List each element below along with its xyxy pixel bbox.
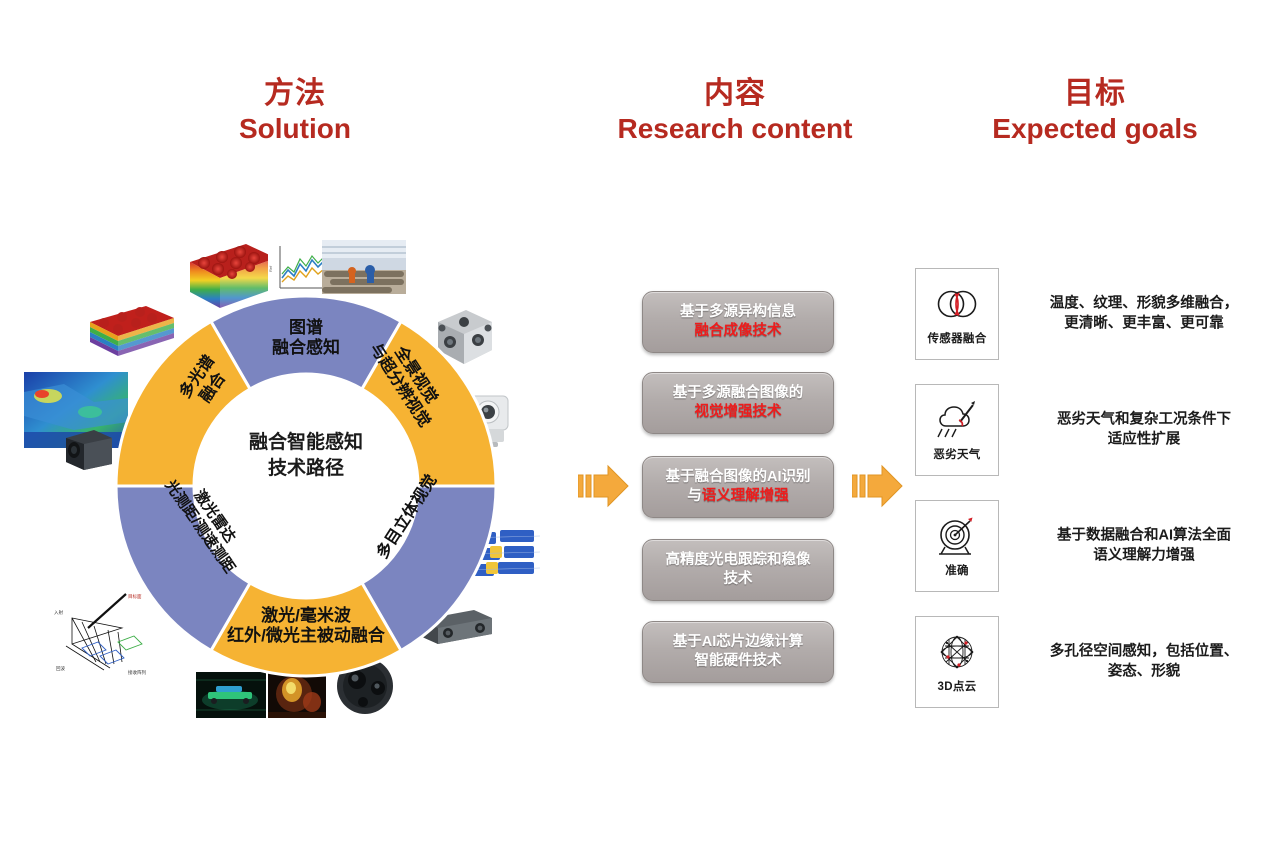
column-header-content-en: Research content (590, 114, 880, 144)
svg-text:Ref: Ref (268, 265, 273, 272)
goal-card-sensor-fusion[interactable]: 传感器融合 (915, 268, 999, 360)
solution-wheel-svg (110, 290, 502, 682)
research-item-1-text: 基于多源融合图像的 视觉增强技术 (673, 384, 804, 423)
goal-row-accuracy: 准确 基于数据融合和AI算法全面 语义理解力增强 (915, 500, 1255, 592)
research-item-4[interactable]: 基于AI芯片边缘计算 智能硬件技术 (642, 621, 834, 683)
goal-card-accuracy[interactable]: 准确 (915, 500, 999, 592)
point-cloud-3d-icon (933, 630, 981, 674)
research-item-2[interactable]: 基于融合图像的AI识别 与语义理解增强 (642, 456, 834, 518)
column-header-goals-cn: 目标 (955, 78, 1235, 110)
arrow-content-to-goals (852, 462, 904, 510)
goal-card-caption: 准确 (945, 562, 969, 578)
solution-wheel: 图谱 融合感知 全景视觉 与超分辨视觉 多目立体视觉 激光/毫米波 红外/微光主… (110, 290, 502, 682)
column-header-content-cn: 内容 (590, 78, 880, 110)
column-header-goals: 目标 Expected goals (955, 78, 1235, 145)
goal-row-bad-weather: 恶劣天气 恶劣天气和复杂工况条件下 适应性扩展 (915, 384, 1255, 476)
bad-weather-icon (933, 398, 981, 442)
svg-text:回波: 回波 (56, 665, 65, 672)
research-item-2-text: 基于融合图像的AI识别 与语义理解增强 (666, 468, 811, 507)
target-accuracy-icon (933, 514, 981, 558)
research-item-1[interactable]: 基于多源融合图像的 视觉增强技术 (642, 372, 834, 434)
goal-text-bad-weather: 恶劣天气和复杂工况条件下 适应性扩展 (1019, 410, 1268, 451)
goal-text-accuracy: 基于数据融合和AI算法全面 语义理解力增强 (1019, 526, 1268, 567)
goal-card-point-cloud[interactable]: 3D点云 (915, 616, 999, 708)
research-item-4-text: 基于AI芯片边缘计算 智能硬件技术 (673, 633, 804, 672)
diagram-canvas: 方法 Solution 内容 Research content 目标 Expec… (0, 0, 1268, 866)
column-header-solution-cn: 方法 (180, 78, 410, 110)
arrow-solution-to-content (578, 462, 630, 510)
goal-card-caption: 3D点云 (938, 678, 977, 694)
goal-card-caption: 传感器融合 (928, 330, 987, 346)
goal-text-sensor-fusion: 温度、纹理、形貌多维融合， 更清晰、更丰富、更可靠 (1019, 294, 1268, 335)
wheel-center-label: 融合智能感知 技术路径 (206, 430, 406, 481)
research-item-0-text: 基于多源异构信息 融合成像技术 (680, 303, 796, 342)
column-header-solution: 方法 Solution (180, 78, 410, 145)
sensor-fusion-icon (933, 282, 981, 326)
goal-card-caption: 恶劣天气 (933, 446, 980, 462)
research-item-3[interactable]: 高精度光电跟踪和稳像 技术 (642, 539, 834, 601)
svg-text:入射: 入射 (54, 609, 63, 616)
goal-text-point-cloud: 多孔径空间感知，包括位置、 姿态、形貌 (1019, 642, 1268, 683)
research-item-0[interactable]: 基于多源异构信息 融合成像技术 (642, 291, 834, 353)
goal-row-point-cloud: 3D点云 多孔径空间感知，包括位置、 姿态、形貌 (915, 616, 1255, 708)
column-header-solution-en: Solution (180, 114, 410, 144)
pipeline-inspection-photo (322, 240, 406, 294)
column-header-goals-en: Expected goals (955, 114, 1235, 144)
goal-row-sensor-fusion: 传感器融合 温度、纹理、形貌多维融合， 更清晰、更丰富、更可靠 (915, 268, 1255, 360)
goal-card-bad-weather[interactable]: 恶劣天气 (915, 384, 999, 476)
column-header-content: 内容 Research content (590, 78, 880, 145)
research-item-3-text: 高精度光电跟踪和稳像 技术 (666, 551, 811, 590)
